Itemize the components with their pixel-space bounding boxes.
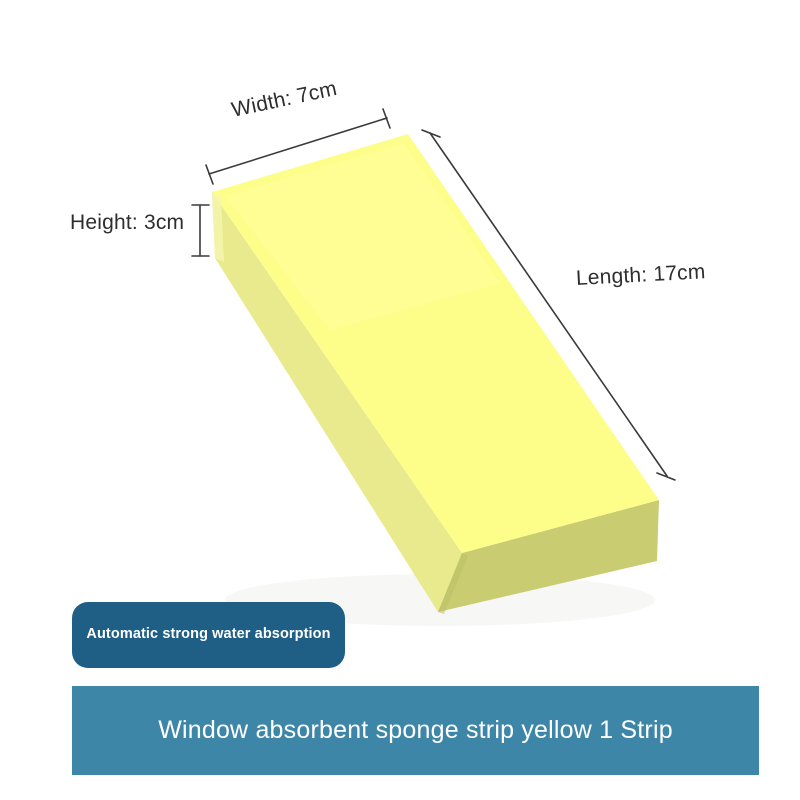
height-dimension-line (192, 205, 209, 256)
product-title-label: Window absorbent sponge strip yellow 1 S… (158, 716, 673, 745)
feature-badge: Automatic strong water absorption (72, 602, 345, 668)
feature-badge-label: Automatic strong water absorption (86, 626, 330, 643)
product-title-banner: Window absorbent sponge strip yellow 1 S… (72, 686, 759, 775)
height-dimension-label: Height: 3cm (70, 211, 184, 235)
product-image-canvas: Width: 7cm Height: 3cm Length: 17cm Auto… (0, 0, 800, 800)
product-illustration (0, 0, 800, 800)
